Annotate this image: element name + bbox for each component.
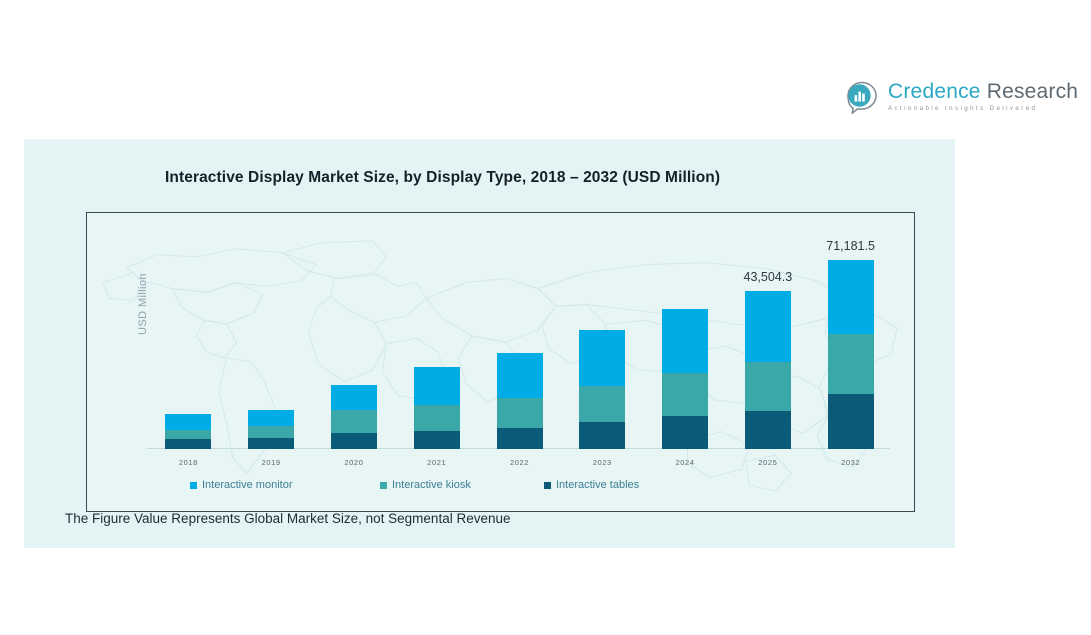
bar-segment-tables[interactable] [414,431,460,449]
x-axis-tick-label: 2025 [758,458,777,467]
bar-segment-monitor[interactable] [414,367,460,405]
bar-segment-monitor[interactable] [662,309,708,373]
bar-segment-monitor[interactable] [579,330,625,386]
legend-item-monitor[interactable]: Interactive monitor [190,479,292,491]
bar-segment-kiosk[interactable] [248,426,294,438]
bar-column[interactable]: 2024 [662,221,708,449]
bar-segment-tables[interactable] [828,394,874,449]
x-axis-tick-label: 2022 [510,458,529,467]
bar-stack[interactable] [414,367,460,449]
legend-swatch-icon [380,482,387,489]
x-axis-tick-label: 2021 [427,458,446,467]
bar-segment-kiosk[interactable] [497,398,543,428]
bar-segment-kiosk[interactable] [828,334,874,394]
bar-segment-monitor[interactable] [497,353,543,398]
bar-column[interactable]: 2019 [248,221,294,449]
x-axis-tick-label: 2019 [262,458,281,467]
bar-stack[interactable] [662,309,708,449]
bar-segment-monitor[interactable] [745,291,791,362]
bar-chart-bubble-icon [845,80,879,114]
brand-tagline: Actionable Insights Delivered [888,106,1078,112]
x-axis-tick-label: 2023 [593,458,612,467]
legend-label: Interactive tables [556,479,639,491]
bar-stack[interactable]: 43,504.3 [745,291,791,449]
legend-item-tables[interactable]: Interactive tables [544,479,639,491]
bar-segment-monitor[interactable] [248,410,294,426]
bar-column[interactable]: 43,504.32025 [745,221,791,449]
bar-segment-kiosk[interactable] [414,405,460,431]
brand-name-part2: Research [987,80,1078,103]
bar-stack[interactable] [497,353,543,449]
bar-value-label: 71,181.5 [826,239,875,253]
bar-segment-tables[interactable] [165,439,211,449]
bar-segment-monitor[interactable] [165,414,211,430]
chart-panel: Interactive Display Market Size, by Disp… [24,139,955,548]
chart-plot-frame: USD Million 2018201920202021202220232024… [86,212,915,512]
bar-stack[interactable] [248,410,294,449]
bar-column[interactable]: 2023 [579,221,625,449]
bar-segment-tables[interactable] [248,438,294,449]
bar-segment-tables[interactable] [497,428,543,449]
bar-segment-tables[interactable] [331,433,377,449]
x-axis-tick-label: 2024 [676,458,695,467]
x-axis-tick-label: 2018 [179,458,198,467]
legend-swatch-icon [544,482,551,489]
legend-label: Interactive kiosk [392,479,471,491]
bar-stack[interactable] [165,414,211,449]
legend-item-kiosk[interactable]: Interactive kiosk [380,479,471,491]
brand-name-part1: Credence [888,80,981,103]
bar-segment-kiosk[interactable] [662,373,708,416]
bar-column[interactable]: 2021 [414,221,460,449]
bar-value-label: 43,504.3 [743,270,792,284]
bar-stack[interactable]: 71,181.5 [828,260,874,449]
bar-stack[interactable] [579,330,625,449]
bar-stack[interactable] [331,385,377,449]
brand-name: Credence Research [888,81,1078,102]
bars-plot-area: 201820192020202120222023202443,504.32025… [147,221,890,449]
brand-logo: Credence Research Actionable Insights De… [845,74,1045,120]
bar-column[interactable]: 2022 [497,221,543,449]
bar-segment-kiosk[interactable] [165,430,211,439]
chart-footnote: The Figure Value Represents Global Marke… [65,511,511,526]
bar-segment-tables[interactable] [745,411,791,449]
legend-label: Interactive monitor [202,479,292,491]
bar-segment-monitor[interactable] [828,260,874,334]
x-axis-tick-label: 2032 [841,458,860,467]
bar-column[interactable]: 71,181.52032 [828,221,874,449]
bar-segment-tables[interactable] [662,416,708,449]
x-axis-tick-label: 2020 [344,458,363,467]
chart-title: Interactive Display Market Size, by Disp… [165,169,720,187]
bar-column[interactable]: 2018 [165,221,211,449]
brand-text: Credence Research Actionable Insights De… [888,81,1078,112]
bar-segment-tables[interactable] [579,422,625,449]
bar-segment-monitor[interactable] [331,385,377,410]
bar-column[interactable]: 2020 [331,221,377,449]
bar-segment-kiosk[interactable] [331,410,377,433]
legend-swatch-icon [190,482,197,489]
chart-legend: Interactive monitorInteractive kioskInte… [86,475,915,495]
bar-segment-kiosk[interactable] [745,362,791,411]
bar-segment-kiosk[interactable] [579,386,625,422]
